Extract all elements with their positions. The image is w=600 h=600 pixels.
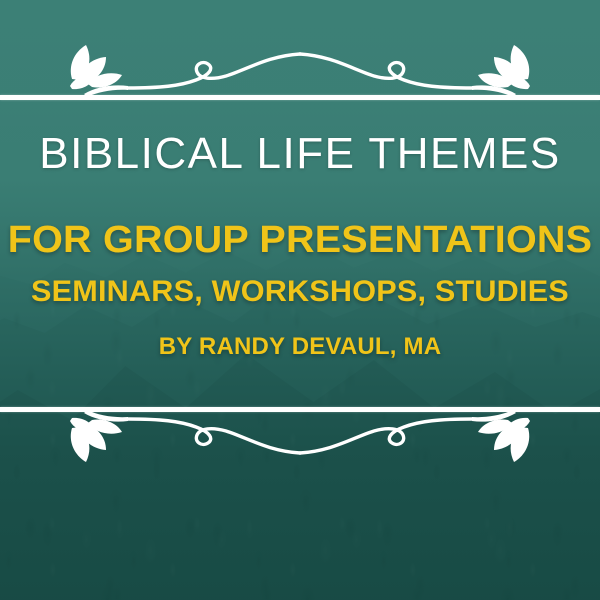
subtitle-line-formats: SEMINARS, WORKSHOPS, STUDIES bbox=[0, 277, 600, 307]
horizontal-rule-top bbox=[0, 95, 600, 100]
horizontal-rule-bottom bbox=[0, 407, 600, 412]
subtitle-line-purpose: FOR GROUP PRESENTATIONS bbox=[0, 221, 600, 259]
subtitle-group: FOR GROUP PRESENTATIONS SEMINARS, WORKSH… bbox=[0, 221, 600, 359]
author-byline: BY RANDY DEVAUL, MA bbox=[0, 335, 600, 359]
presentation-title-slide: BIBLICAL LIFE THEMES FOR GROUP PRESENTAT… bbox=[0, 0, 600, 600]
page-title: BIBLICAL LIFE THEMES bbox=[0, 131, 600, 177]
